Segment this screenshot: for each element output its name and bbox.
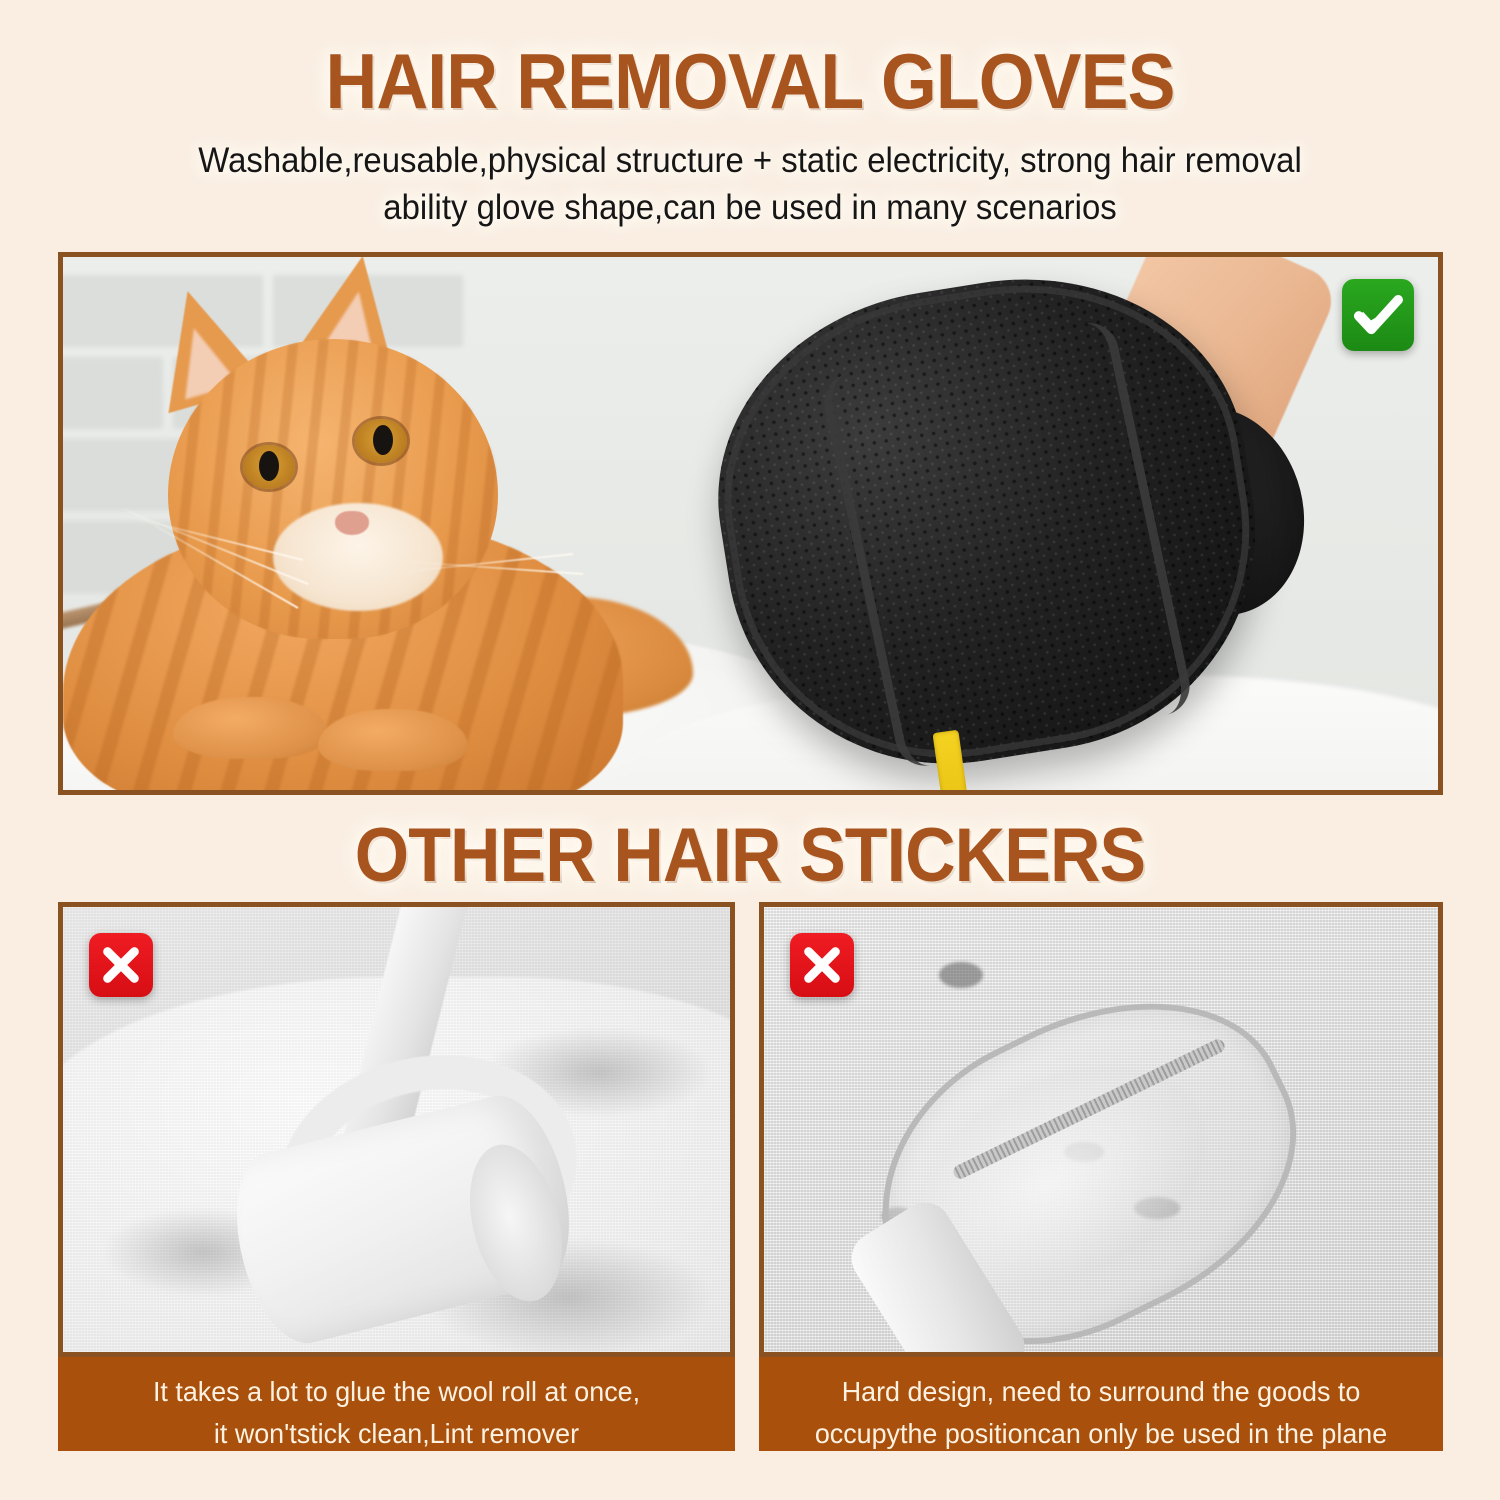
- hero-scene: [63, 257, 1438, 790]
- cat-pupil-right: [373, 425, 393, 455]
- caption-lint-roller: It takes a lot to glue the wool roll at …: [58, 1357, 735, 1451]
- check-icon: [1342, 279, 1414, 351]
- cat-nose: [335, 511, 369, 535]
- cat-paw: [318, 709, 468, 771]
- caption-blade-remover: Hard design, need to surround the goods …: [759, 1357, 1443, 1451]
- blade-remover-scene: [764, 907, 1438, 1352]
- cat-paw: [173, 697, 328, 759]
- caption-line-2: it won'tstick clean,Lint remover: [81, 1413, 712, 1455]
- section-title-other-hair-stickers: OTHER HAIR STICKERS: [60, 818, 1440, 894]
- caption-line-1: It takes a lot to glue the wool roll at …: [81, 1371, 712, 1413]
- cross-icon: [89, 933, 153, 997]
- comparison-panel-blade-remover: [759, 902, 1443, 1357]
- subtitle-line-1: Washable,reusable,physical structure + s…: [45, 138, 1455, 185]
- caption-line-2: occupythe positioncan only be used in th…: [782, 1413, 1419, 1455]
- cat-pupil-left: [259, 451, 279, 481]
- page-title: HAIR REMOVAL GLOVES: [60, 0, 1440, 120]
- subtitle-line-2: ability glove shape,can be used in many …: [45, 185, 1455, 232]
- lint-roller-scene: [63, 907, 730, 1352]
- page-subtitle: Washable,reusable,physical structure + s…: [45, 120, 1455, 232]
- hero-image-panel: [58, 252, 1443, 795]
- caption-line-1: Hard design, need to surround the goods …: [782, 1371, 1419, 1413]
- comparison-panel-lint-roller: [58, 902, 735, 1357]
- fabric-speck: [939, 962, 983, 988]
- cross-icon: [790, 933, 854, 997]
- cat-illustration: [73, 267, 713, 795]
